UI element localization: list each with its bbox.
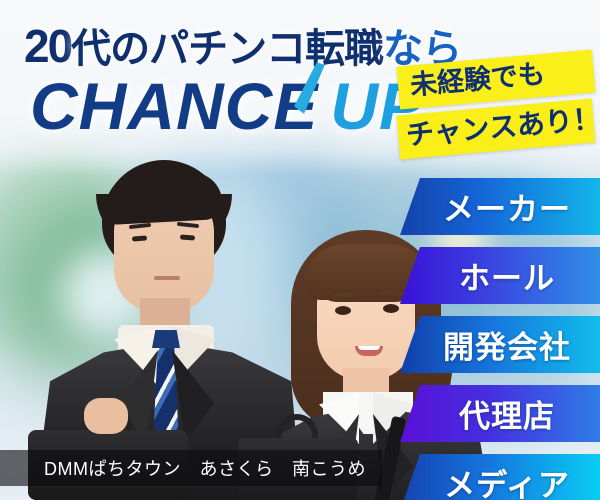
credit-caption-bar: DMMぱちタウン あさくら 南こうめ bbox=[0, 450, 382, 486]
man-eye bbox=[132, 235, 147, 241]
category-label: メーカー bbox=[429, 184, 571, 229]
category-button-maker[interactable]: メーカー bbox=[400, 178, 600, 235]
promo-badge: 未経験でも チャンスあり！ bbox=[398, 58, 594, 151]
category-label: ホール bbox=[445, 253, 555, 298]
headline-main: 代のパチンコ転職 bbox=[71, 27, 383, 71]
man-hand bbox=[84, 398, 128, 434]
headline-text: 20代のパチンコ転職なら bbox=[24, 16, 461, 74]
woman-eye bbox=[335, 306, 351, 315]
category-label: 代理店 bbox=[445, 391, 555, 436]
man-fringe bbox=[105, 171, 223, 225]
category-button-hall[interactable]: ホール bbox=[400, 247, 600, 304]
man-mouth bbox=[154, 276, 180, 280]
logo-chance-up: CHANCEUP bbox=[30, 68, 424, 144]
promo-banner: 20代のパチンコ転職なら CHANCEUP 未経験でも チャンスあり！ メーカー… bbox=[0, 0, 600, 500]
category-button-media[interactable]: メディア bbox=[400, 454, 600, 500]
category-label: メディア bbox=[430, 460, 570, 500]
category-button-developer[interactable]: 開発会社 bbox=[400, 316, 600, 373]
category-label: 開発会社 bbox=[429, 322, 571, 367]
woman-teeth bbox=[358, 346, 380, 350]
man-eye bbox=[180, 234, 195, 240]
headline-number: 20 bbox=[24, 20, 71, 72]
badge-line-2: チャンスあり！ bbox=[396, 99, 595, 160]
category-list: メーカー ホール 開発会社 代理店 メディア bbox=[400, 178, 600, 500]
logo-word-chance: CHANCE bbox=[30, 69, 318, 143]
woman-eye bbox=[383, 304, 399, 313]
category-button-agency[interactable]: 代理店 bbox=[400, 385, 600, 442]
credit-caption-text: DMMぱちタウン あさくら 南こうめ bbox=[0, 455, 366, 481]
man-necktie-knot bbox=[152, 330, 180, 348]
